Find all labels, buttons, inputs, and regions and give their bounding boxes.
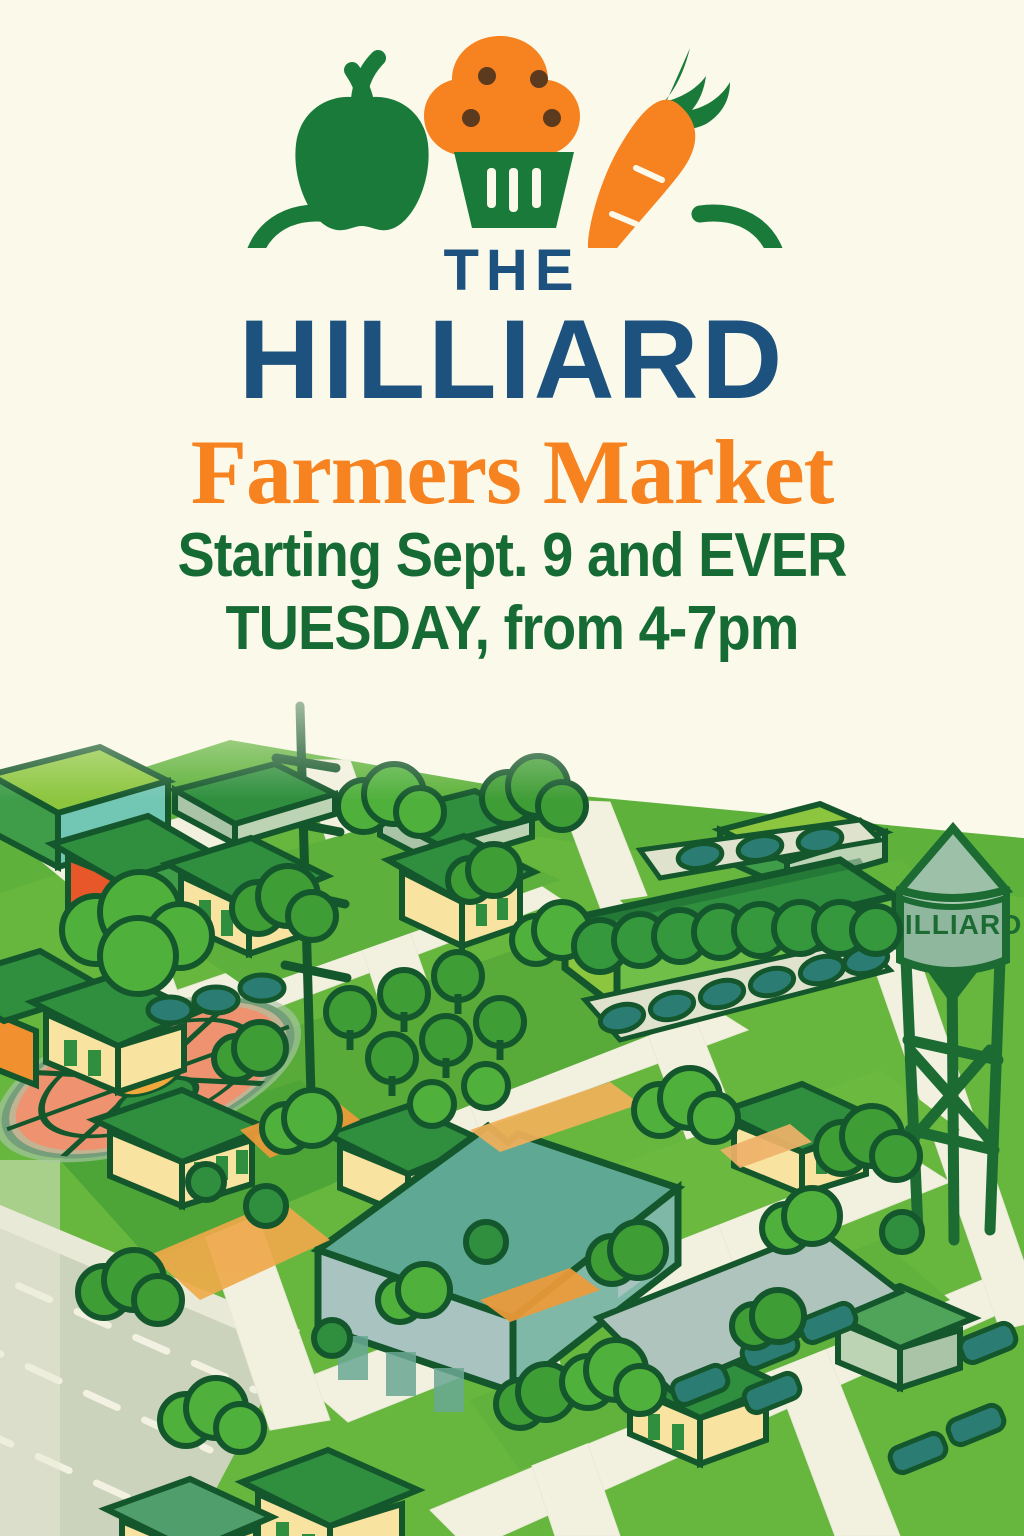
subtitle-line-1: Starting Sept. 9 and EVER bbox=[51, 520, 973, 593]
title-block: THE HILLIARD Farmers Market bbox=[0, 242, 1024, 518]
poster-root: HILLIARD bbox=[0, 0, 1024, 1536]
apple-icon bbox=[295, 58, 428, 230]
title-farmers-market: Farmers Market bbox=[0, 426, 1024, 518]
muffin-icon bbox=[424, 36, 580, 228]
subtitle-block: Starting Sept. 9 and EVER TUESDAY, from … bbox=[51, 520, 973, 665]
title-hilliard: HILLIARD bbox=[0, 304, 1024, 416]
water-tower-label: HILLIARD bbox=[884, 909, 1023, 940]
subtitle-line-2: TUESDAY, from 4-7pm bbox=[51, 593, 973, 666]
logo-icon-group bbox=[0, 28, 1024, 248]
title-the: THE bbox=[0, 242, 1024, 300]
poster-header: THE HILLIARD Farmers Market Starting Sep… bbox=[0, 0, 1024, 700]
